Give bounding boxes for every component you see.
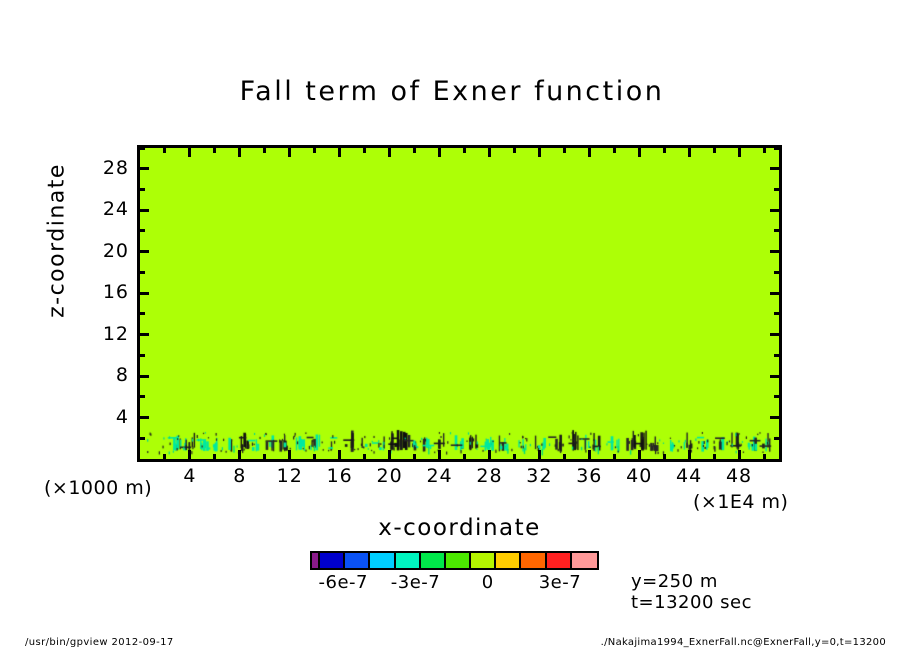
x-tick-major [388,148,391,157]
heatmap-canvas [140,148,779,459]
colorbar-segment [370,553,395,568]
x-axis-unit-label: (×1E4 m) [693,491,788,513]
x-tick-major [738,450,741,459]
y-tick-major [140,375,149,378]
x-tick-minor [213,148,216,153]
y-tick-minor [140,271,145,274]
x-tick-minor [413,148,416,153]
plot-area[interactable] [137,145,782,462]
y-tick-minor [140,395,145,398]
y-tick-major [770,416,779,419]
y-tick-minor [774,312,779,315]
y-tick-minor [774,395,779,398]
colorbar-segment [471,553,496,568]
plot-annotation: y=250 m t=13200 sec [631,571,752,613]
x-tick-major [438,148,441,157]
x-tick-label: 48 [713,465,765,487]
x-tick-major [638,148,641,157]
x-tick-major [338,148,341,157]
y-tick-minor [140,312,145,315]
y-tick-major [140,250,149,253]
y-tick-major [140,209,149,212]
y-tick-label: 16 [83,281,129,303]
x-tick-major [188,148,191,157]
y-tick-major [140,416,149,419]
colorbar-segment [320,553,345,568]
annotation-line-t: t=13200 sec [631,592,752,613]
x-tick-major [238,450,241,459]
y-tick-major [770,209,779,212]
x-tick-major [488,148,491,157]
x-tick-major [538,148,541,157]
colorbar-tick-label: 3e-7 [515,572,605,593]
y-tick-major [770,167,779,170]
colorbar[interactable] [310,551,599,570]
colorbar-segment [312,553,320,568]
x-tick-major [588,148,591,157]
x-tick-major [588,450,591,459]
colorbar-segment [345,553,370,568]
y-tick-minor [774,147,779,150]
x-tick-label: 40 [613,465,665,487]
x-tick-minor [713,148,716,153]
y-tick-label: 28 [83,157,129,179]
x-tick-minor [363,148,366,153]
y-tick-minor [774,229,779,232]
x-tick-major [288,148,291,157]
y-tick-minor [774,188,779,191]
x-tick-major [188,450,191,459]
x-tick-minor [613,148,616,153]
page-title: Fall term of Exner function [0,76,904,107]
y-tick-minor [140,147,145,150]
y-tick-minor [140,354,145,357]
colorbar-segment [421,553,446,568]
footer-datasource: ./Nakajima1994_ExnerFall.nc@ExnerFall,y=… [601,637,886,648]
x-tick-major [538,450,541,459]
x-tick-minor [463,148,466,153]
y-axis-unit-label: (×1000 m) [44,477,152,499]
x-tick-label: 4 [164,465,216,487]
x-tick-label: 16 [314,465,366,487]
y-tick-major [770,250,779,253]
y-tick-minor [140,437,145,440]
x-tick-major [688,450,691,459]
x-tick-major [488,450,491,459]
colorbar-segment [572,553,597,568]
x-tick-major [688,148,691,157]
x-tick-minor [763,454,766,459]
x-tick-minor [713,454,716,459]
x-tick-label: 36 [563,465,615,487]
x-tick-minor [263,148,266,153]
y-tick-minor [774,271,779,274]
footer-command: /usr/bin/gpview 2012-09-17 [25,637,174,648]
x-tick-minor [463,454,466,459]
x-tick-minor [563,454,566,459]
x-tick-label: 28 [463,465,515,487]
x-axis-title: x-coordinate [137,515,782,541]
x-tick-minor [663,454,666,459]
y-tick-major [770,333,779,336]
x-tick-minor [263,454,266,459]
x-tick-major [338,450,341,459]
x-tick-label: 24 [414,465,466,487]
y-tick-label: 12 [83,323,129,345]
y-tick-major [770,375,779,378]
y-tick-label: 4 [83,406,129,428]
y-tick-minor [774,354,779,357]
y-tick-minor [774,437,779,440]
x-tick-label: 32 [513,465,565,487]
x-tick-major [738,148,741,157]
x-tick-minor [663,148,666,153]
colorbar-segment [446,553,471,568]
colorbar-segment [396,553,421,568]
x-tick-minor [313,148,316,153]
x-tick-minor [413,454,416,459]
x-tick-major [288,450,291,459]
y-tick-minor [140,188,145,191]
x-tick-major [638,450,641,459]
colorbar-segment [547,553,572,568]
x-tick-major [238,148,241,157]
y-tick-major [140,167,149,170]
x-tick-major [438,450,441,459]
y-tick-label: 8 [83,364,129,386]
x-tick-minor [163,454,166,459]
x-tick-minor [613,454,616,459]
x-tick-minor [513,148,516,153]
y-axis-title: z-coordinate [45,151,70,331]
x-tick-label: 12 [264,465,316,487]
y-tick-major [140,333,149,336]
x-tick-minor [363,454,366,459]
x-tick-minor [513,454,516,459]
y-tick-label: 20 [83,240,129,262]
x-tick-minor [563,148,566,153]
x-tick-minor [313,454,316,459]
annotation-line-y: y=250 m [631,571,752,592]
x-tick-major [388,450,391,459]
colorbar-segment [496,553,521,568]
x-tick-label: 44 [663,465,715,487]
colorbar-segment [521,553,546,568]
y-tick-major [770,292,779,295]
x-tick-minor [213,454,216,459]
x-tick-label: 20 [364,465,416,487]
y-tick-major [140,292,149,295]
y-tick-minor [140,229,145,232]
y-tick-label: 24 [83,198,129,220]
x-tick-label: 8 [214,465,266,487]
x-tick-minor [163,148,166,153]
x-tick-minor [763,148,766,153]
